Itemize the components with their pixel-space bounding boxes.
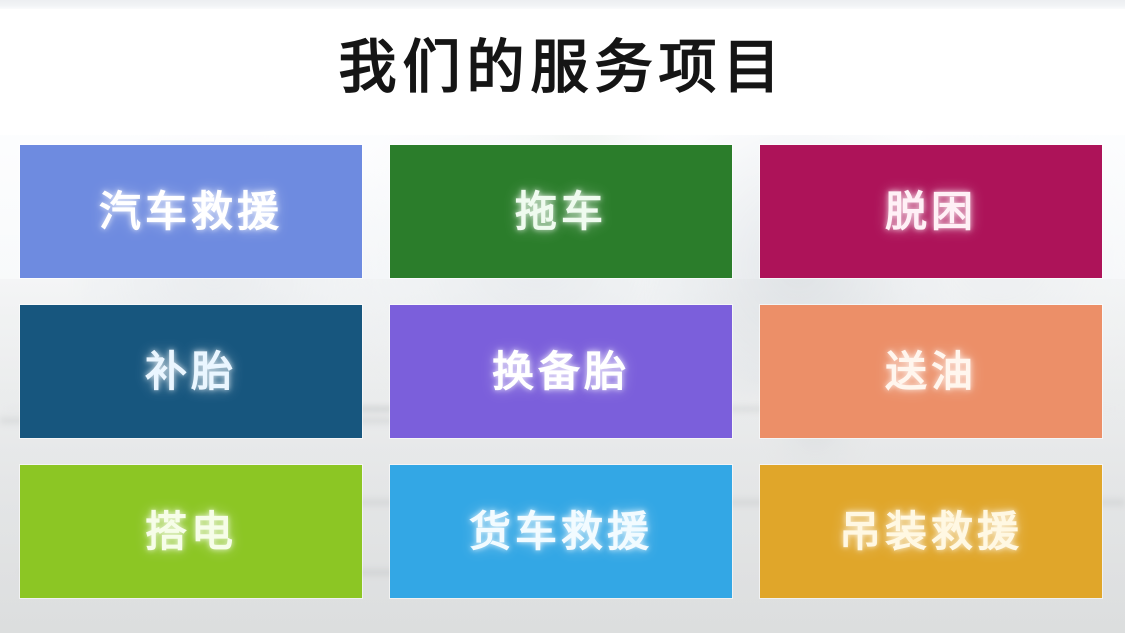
top-edge-strip xyxy=(0,0,1125,9)
title-band: 我们的服务项目 xyxy=(0,9,1125,135)
service-card-spare-tire-change[interactable]: 换备胎 xyxy=(390,305,732,438)
service-card-extrication[interactable]: 脱困 xyxy=(760,145,1102,278)
service-card-fuel-delivery[interactable]: 送油 xyxy=(760,305,1102,438)
service-poster: 我们的服务项目 汽车救援拖车脱困补胎换备胎送油搭电货车救援吊装救援 xyxy=(0,0,1125,633)
page-title: 我们的服务项目 xyxy=(338,38,786,106)
service-card-label: 补胎 xyxy=(145,351,237,393)
service-card-car-rescue[interactable]: 汽车救援 xyxy=(20,145,362,278)
service-card-label: 吊装救援 xyxy=(839,511,1023,553)
service-card-label: 脱困 xyxy=(885,191,977,233)
service-card-label: 汽车救援 xyxy=(99,191,283,233)
service-grid: 汽车救援拖车脱困补胎换备胎送油搭电货车救援吊装救援 xyxy=(20,145,1103,598)
service-card-label: 换备胎 xyxy=(492,351,630,393)
service-card-jump-start[interactable]: 搭电 xyxy=(20,465,362,598)
service-card-tire-repair[interactable]: 补胎 xyxy=(20,305,362,438)
service-card-label: 拖车 xyxy=(515,191,607,233)
service-card-label: 货车救援 xyxy=(469,511,653,553)
service-card-hoisting-rescue[interactable]: 吊装救援 xyxy=(760,465,1102,598)
service-card-label: 搭电 xyxy=(145,511,237,553)
service-card-label: 送油 xyxy=(885,351,977,393)
service-card-truck-rescue[interactable]: 货车救援 xyxy=(390,465,732,598)
service-card-tow-truck[interactable]: 拖车 xyxy=(390,145,732,278)
